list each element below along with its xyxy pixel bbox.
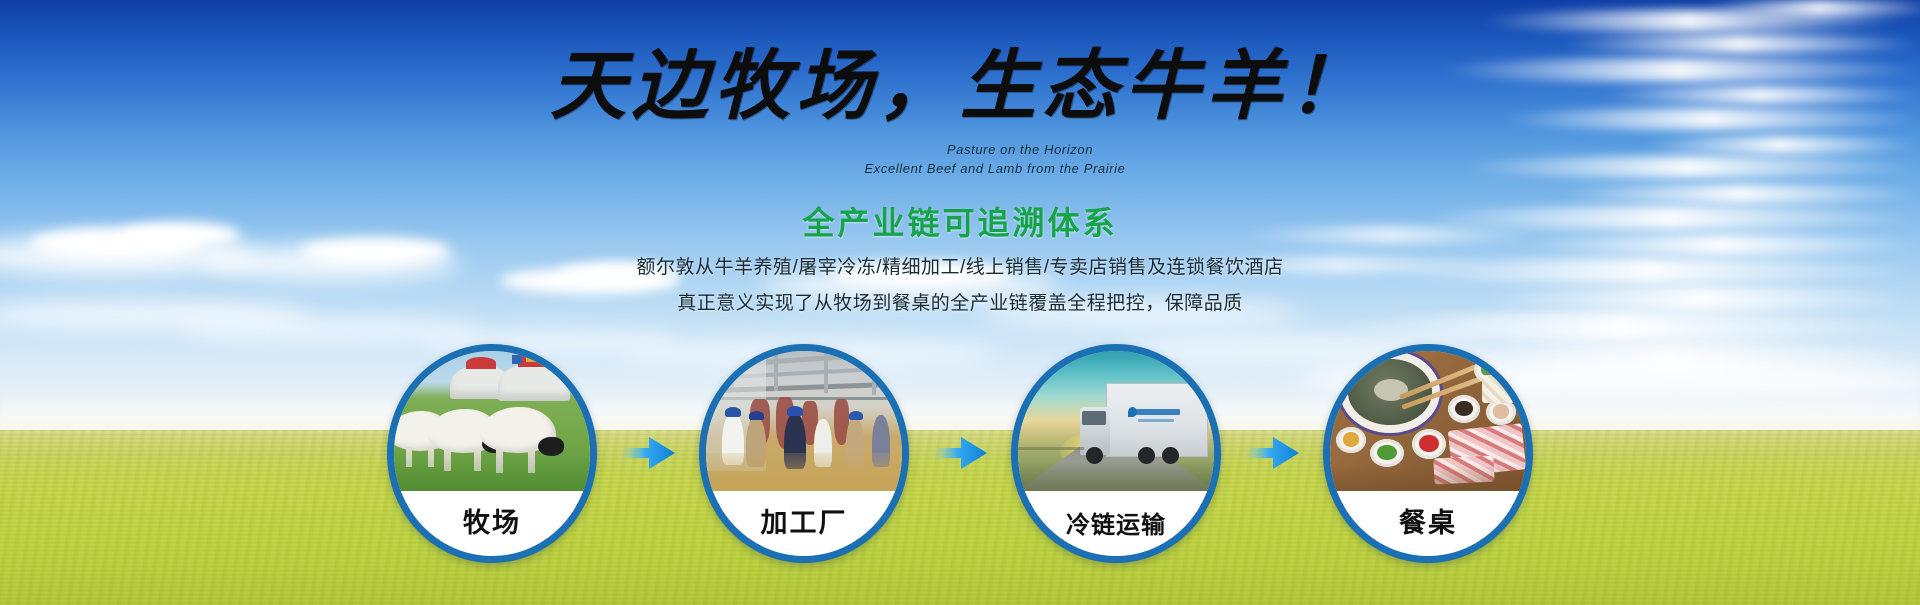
arrow-right-icon xyxy=(1243,429,1301,477)
english-subtitle-block: Pasture on the Horizon Excellent Beef an… xyxy=(0,142,1920,176)
cloud-shape xyxy=(1330,312,1920,342)
calligraphy-title: 天边牧场，生态牛羊！ xyxy=(0,48,1920,124)
pasture-photo xyxy=(394,351,590,491)
promo-banner: 天边牧场，生态牛羊！ Pasture on the Horizon Excell… xyxy=(0,0,1920,605)
description-line-1: 额尔敦从牛羊养殖/屠宰冷冻/精细加工/线上销售/专卖店销售及连锁餐饮酒店 xyxy=(0,252,1920,279)
english-subtitle-line-1: Pasture on the Horizon xyxy=(120,142,1920,157)
flow-node-label: 餐桌 xyxy=(1330,501,1526,540)
arrow-right-icon xyxy=(931,429,989,477)
description-line-2: 真正意义实现了从牧场到餐桌的全产业链覆盖全程把控，保障品质 xyxy=(0,288,1920,315)
english-subtitle-line-2: Excellent Beef and Lamb from the Prairie xyxy=(70,161,1920,176)
flow-node-label: 加工厂 xyxy=(706,501,902,540)
headline-block: 天边牧场，生态牛羊！ xyxy=(0,48,1920,124)
flow-node-factory[interactable]: 加工厂 xyxy=(699,344,909,563)
flow-node-dining-table[interactable]: 餐桌 xyxy=(1323,344,1533,563)
flow-node-label: 牧场 xyxy=(394,501,590,540)
flow-node-label: 冷链运输 xyxy=(1018,505,1214,540)
factory-photo xyxy=(706,351,902,491)
cold-chain-truck-photo xyxy=(1018,351,1214,491)
flow-node-cold-chain[interactable]: 冷链运输 xyxy=(1011,344,1221,563)
flow-node-pasture[interactable]: 牧场 xyxy=(387,344,597,563)
dining-table-photo xyxy=(1330,351,1526,491)
green-heading: 全产业链可追溯体系 xyxy=(0,198,1920,244)
arrow-right-icon xyxy=(619,429,677,477)
supply-chain-flow: 牧场 xyxy=(0,348,1920,558)
